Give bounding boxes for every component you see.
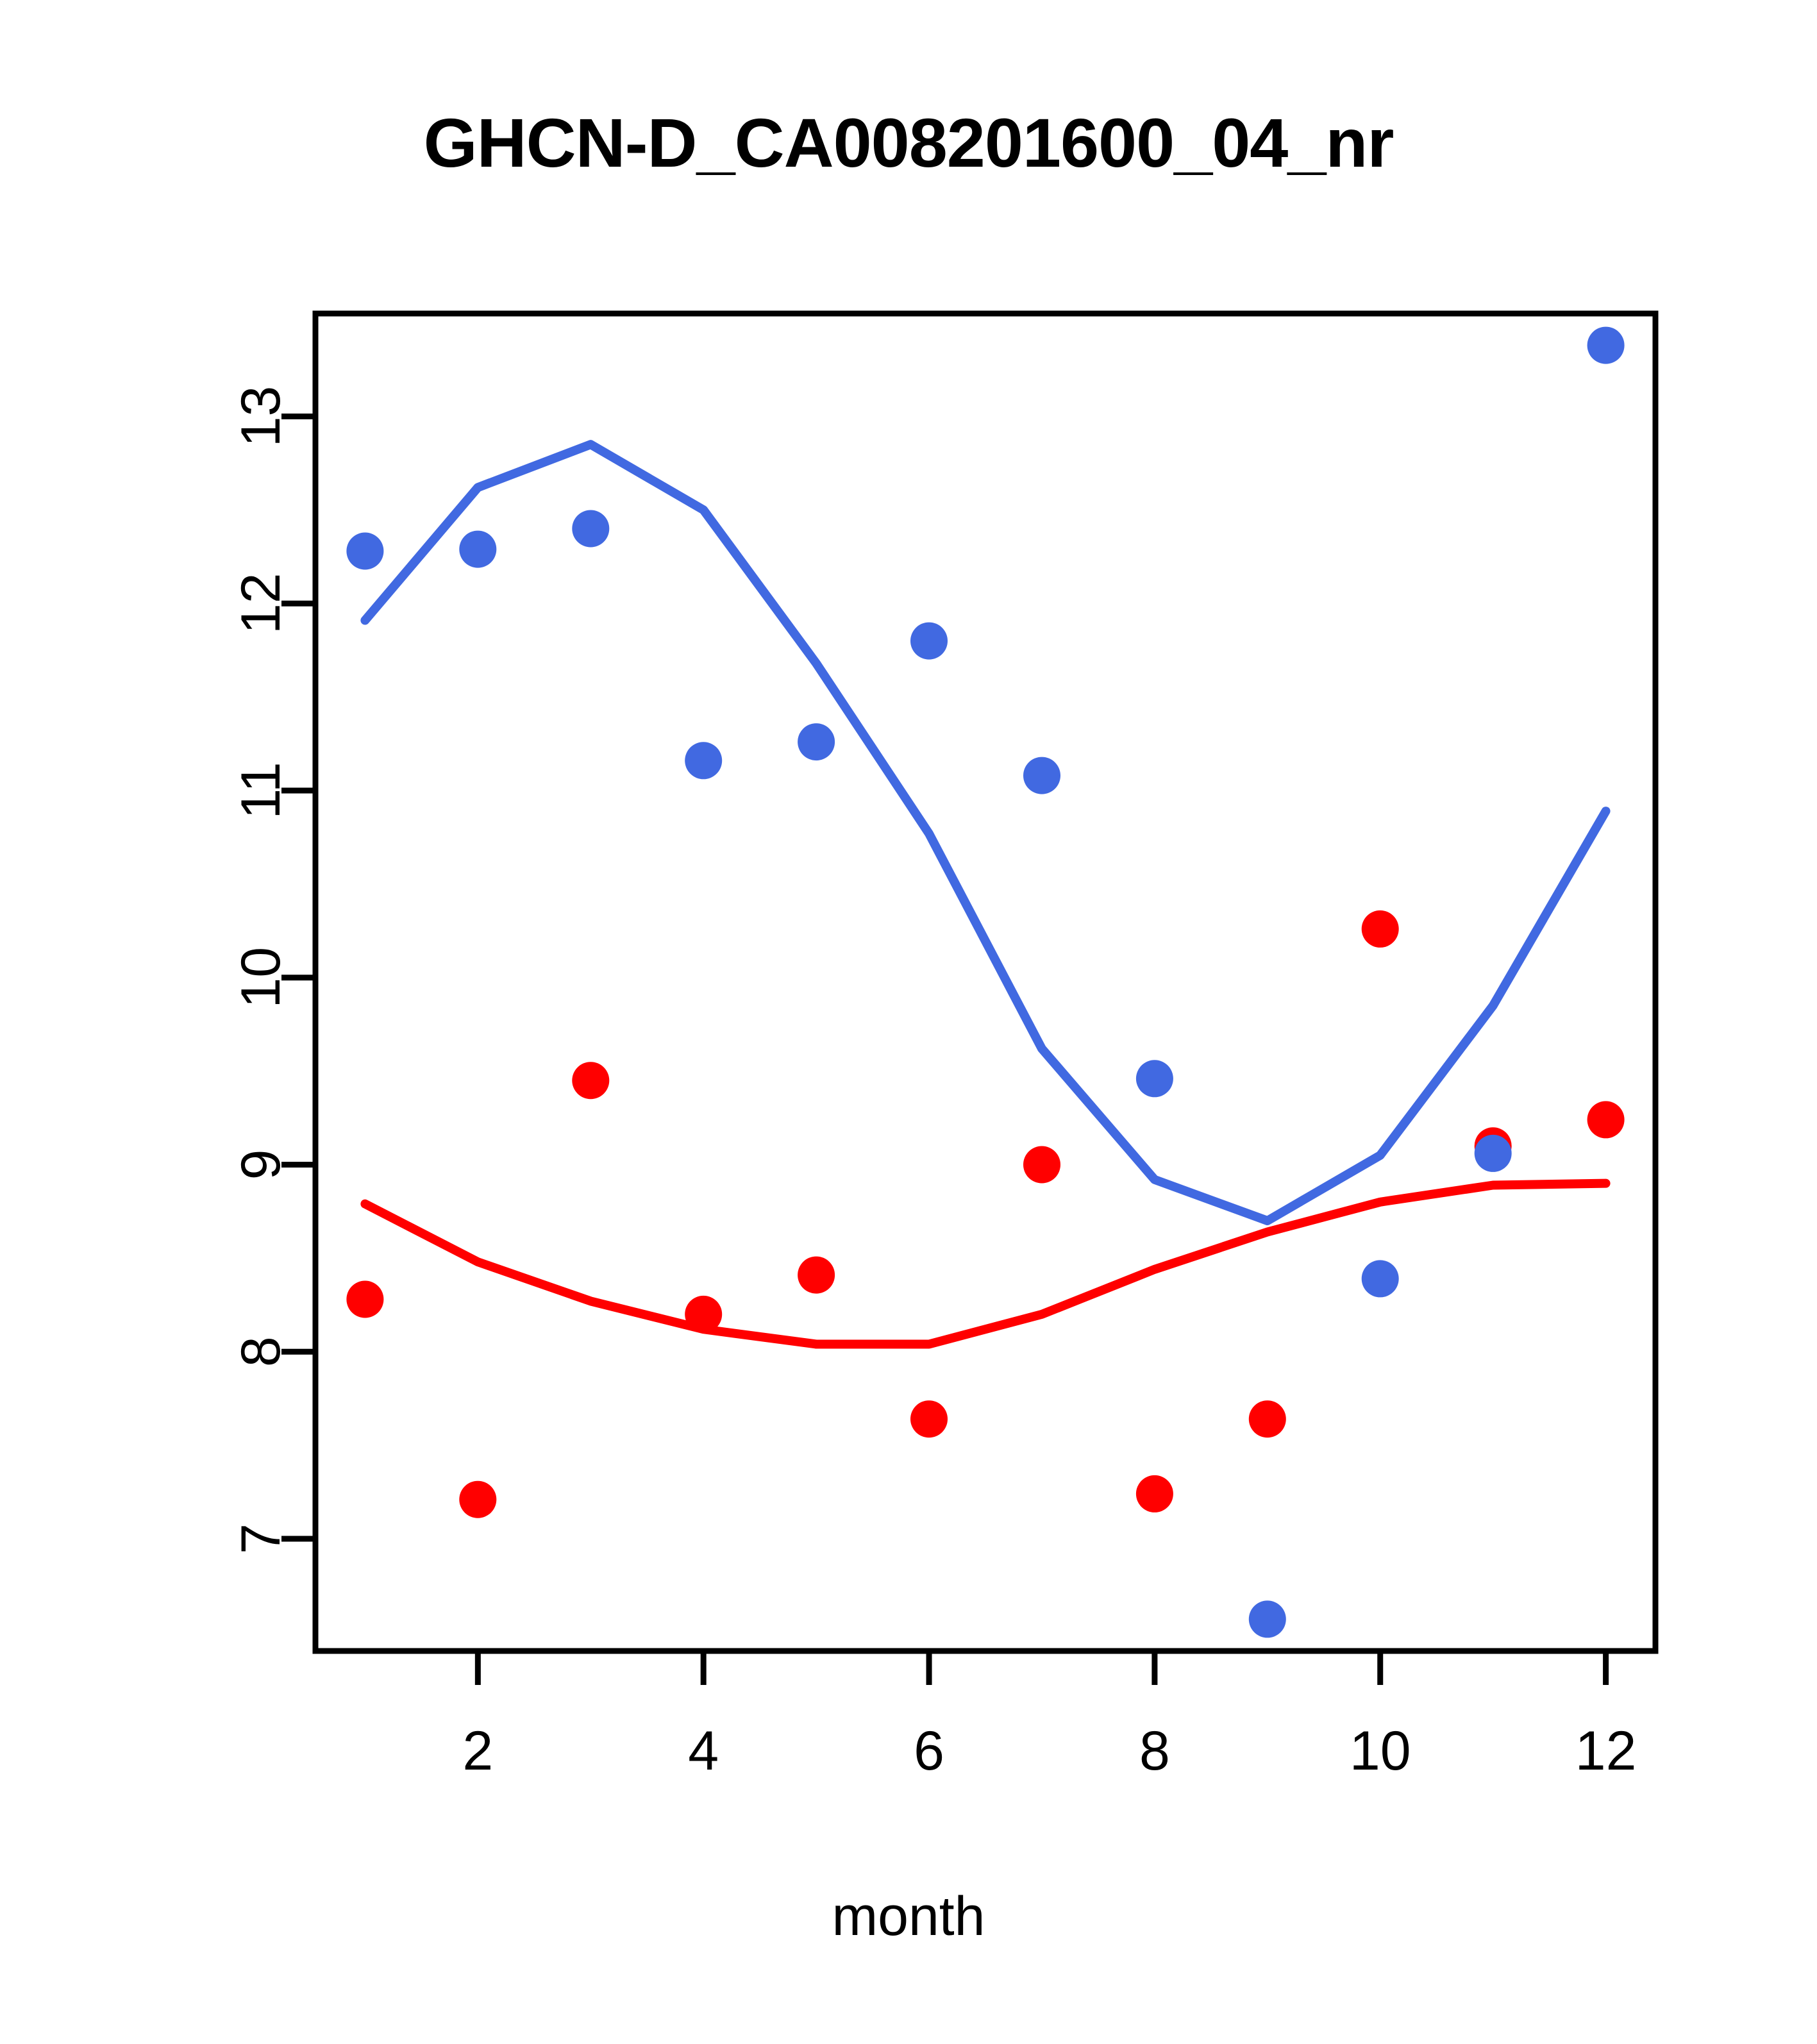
x-axis-ticks <box>478 1651 1605 1685</box>
data-point <box>1249 1600 1286 1638</box>
data-point <box>1362 1260 1399 1297</box>
data-point <box>685 742 722 779</box>
red-smooth-line <box>365 1184 1605 1345</box>
x-axis-tick-label: 8 <box>1139 1720 1170 1782</box>
data-point <box>1023 1146 1060 1184</box>
data-point <box>1136 1060 1173 1097</box>
data-point <box>572 510 609 548</box>
y-axis-tick-label: 13 <box>230 386 292 448</box>
data-point <box>1475 1135 1512 1172</box>
data-point <box>1249 1400 1286 1437</box>
y-axis-tick-label: 11 <box>230 762 292 819</box>
data-point <box>572 1062 609 1099</box>
x-axis-tick-label: 4 <box>688 1720 719 1782</box>
data-point <box>1023 757 1060 794</box>
y-axis-tick-label: 12 <box>230 573 292 634</box>
y-axis-tick-label: 8 <box>230 1336 292 1367</box>
data-point <box>459 531 496 568</box>
data-point <box>910 1400 948 1437</box>
data-point <box>910 623 948 660</box>
x-axis-tick-label: 12 <box>1575 1720 1637 1782</box>
chart-figure: GHCN-D_CA008201600_04_nr 78910111213 246… <box>0 0 1817 2044</box>
plot-canvas: 78910111213 24681012 <box>0 0 1817 2044</box>
x-axis-tick-label: 6 <box>914 1720 944 1782</box>
data-point <box>1362 910 1399 948</box>
data-point <box>1587 327 1625 364</box>
data-point <box>798 723 835 760</box>
data-point <box>459 1481 496 1518</box>
data-point <box>346 1281 383 1318</box>
blue-smooth-line <box>365 444 1605 1221</box>
x-axis-tick-label: 2 <box>462 1720 493 1782</box>
x-axis-tick-labels: 24681012 <box>462 1720 1636 1782</box>
data-point <box>346 533 383 570</box>
y-axis-tick-label: 7 <box>230 1523 292 1554</box>
data-point <box>1136 1475 1173 1512</box>
y-axis-tick-label: 9 <box>230 1150 292 1180</box>
red-data-points <box>346 910 1624 1518</box>
data-point <box>798 1257 835 1294</box>
y-axis-tick-labels: 78910111213 <box>230 386 292 1554</box>
data-point <box>685 1296 722 1333</box>
plot-frame <box>315 314 1655 1651</box>
x-axis-tick-label: 10 <box>1350 1720 1411 1782</box>
blue-data-points <box>346 327 1624 1638</box>
data-point <box>1587 1101 1625 1138</box>
y-axis-tick-label: 10 <box>230 947 292 1009</box>
x-axis-label: month <box>0 1885 1817 1948</box>
